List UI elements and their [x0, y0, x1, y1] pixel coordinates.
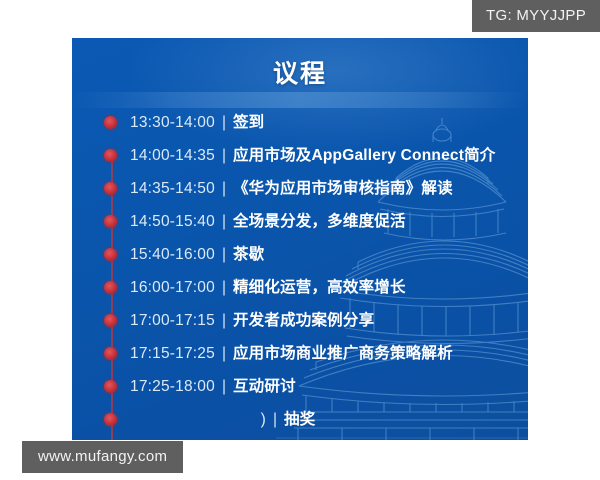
- agenda-item[interactable]: 13:30-14:00|签到: [72, 106, 528, 139]
- agenda-item-text: 17:25-18:00|互动研讨: [130, 379, 296, 395]
- agenda-item-text: )|抽奖: [130, 412, 315, 428]
- agenda-separator: |: [222, 114, 226, 131]
- agenda-card: 议程 13:30-14:00|签到 14:00-14:35|应用市场及AppGa…: [72, 38, 528, 440]
- agenda-item-time: 14:35-14:50: [130, 180, 215, 197]
- agenda-item-text: 17:00-17:15|开发者成功案例分享: [130, 313, 374, 329]
- timeline-dot-icon: [104, 347, 117, 360]
- agenda-item-text: 16:00-17:00|精细化运营，高效率增长: [130, 280, 406, 296]
- agenda-item-time: 14:00-14:35: [130, 147, 215, 164]
- agenda-item-topic: 茶歇: [233, 246, 264, 263]
- agenda-item-topic: 全场景分发，多维度促活: [233, 213, 406, 230]
- timeline-dot-icon: [104, 314, 117, 327]
- agenda-separator: |: [222, 345, 226, 362]
- timeline-dot-icon: [104, 281, 117, 294]
- agenda-item-text: 14:00-14:35|应用市场及AppGallery Connect简介: [130, 148, 495, 164]
- agenda-item[interactable]: 16:00-17:00|精细化运营，高效率增长: [72, 271, 528, 304]
- agenda-item-topic: 抽奖: [284, 411, 315, 428]
- agenda-item-topic: 应用市场商业推广商务策略解析: [233, 345, 453, 362]
- agenda-item[interactable]: 17:25-18:00|互动研讨: [72, 370, 528, 403]
- agenda-item-time: 17:25-18:00: [130, 378, 215, 395]
- agenda-item-text: 14:35-14:50|《华为应用市场审核指南》解读: [130, 181, 453, 197]
- agenda-item-time: 15:40-16:00: [130, 246, 215, 263]
- agenda-item-text: 17:15-17:25|应用市场商业推广商务策略解析: [130, 346, 453, 362]
- agenda-item[interactable]: 15:40-16:00|茶歇: [72, 238, 528, 271]
- agenda-item-text: 14:50-15:40|全场景分发，多维度促活: [130, 214, 406, 230]
- agenda-timeline-list: 13:30-14:00|签到 14:00-14:35|应用市场及AppGalle…: [72, 106, 528, 436]
- agenda-item-text: 15:40-16:00|茶歇: [130, 247, 264, 263]
- timeline-dot-icon: [104, 413, 117, 426]
- timeline-dot-icon: [104, 248, 117, 261]
- timeline-dot-icon: [104, 380, 117, 393]
- agenda-item-time: 17:00-17:15: [130, 312, 215, 329]
- agenda-item[interactable]: 14:35-14:50|《华为应用市场审核指南》解读: [72, 172, 528, 205]
- site-url-watermark: www.mufangy.com: [22, 441, 183, 473]
- agenda-separator: |: [222, 378, 226, 395]
- agenda-separator: |: [222, 246, 226, 263]
- agenda-item-time: 17:15-17:25: [130, 345, 215, 362]
- agenda-item-topic: 互动研讨: [233, 378, 296, 395]
- agenda-item-time: 13:30-14:00: [130, 114, 215, 131]
- timeline-dot-icon: [104, 149, 117, 162]
- page-title: 议程: [72, 54, 528, 90]
- agenda-separator: |: [222, 279, 226, 296]
- agenda-item-topic: 精细化运营，高效率增长: [233, 279, 406, 296]
- agenda-separator: |: [222, 147, 226, 164]
- agenda-item-topic: 《华为应用市场审核指南》解读: [233, 180, 453, 197]
- agenda-separator: |: [273, 411, 277, 428]
- agenda-item-text: 13:30-14:00|签到: [130, 115, 264, 131]
- agenda-separator: |: [222, 312, 226, 329]
- telegram-tag-watermark: TG: MYYJJPP: [472, 0, 600, 32]
- agenda-item-time: 14:50-15:40: [130, 213, 215, 230]
- timeline-dot-icon: [104, 182, 117, 195]
- agenda-item[interactable]: 14:50-15:40|全场景分发，多维度促活: [72, 205, 528, 238]
- agenda-item-topic: 签到: [233, 114, 264, 131]
- agenda-item-time: 16:00-17:00: [130, 279, 215, 296]
- agenda-item-topic: 应用市场及AppGallery Connect简介: [233, 147, 496, 164]
- timeline-dot-icon: [104, 215, 117, 228]
- agenda-item-topic: 开发者成功案例分享: [233, 312, 374, 329]
- agenda-separator: |: [222, 180, 226, 197]
- agenda-item[interactable]: )|抽奖: [72, 403, 528, 436]
- agenda-item[interactable]: 17:15-17:25|应用市场商业推广商务策略解析: [72, 337, 528, 370]
- agenda-item[interactable]: 14:00-14:35|应用市场及AppGallery Connect简介: [72, 139, 528, 172]
- timeline-dot-icon: [104, 116, 117, 129]
- agenda-item[interactable]: 17:00-17:15|开发者成功案例分享: [72, 304, 528, 337]
- agenda-separator: |: [222, 213, 226, 230]
- agenda-item-time: ): [130, 412, 266, 428]
